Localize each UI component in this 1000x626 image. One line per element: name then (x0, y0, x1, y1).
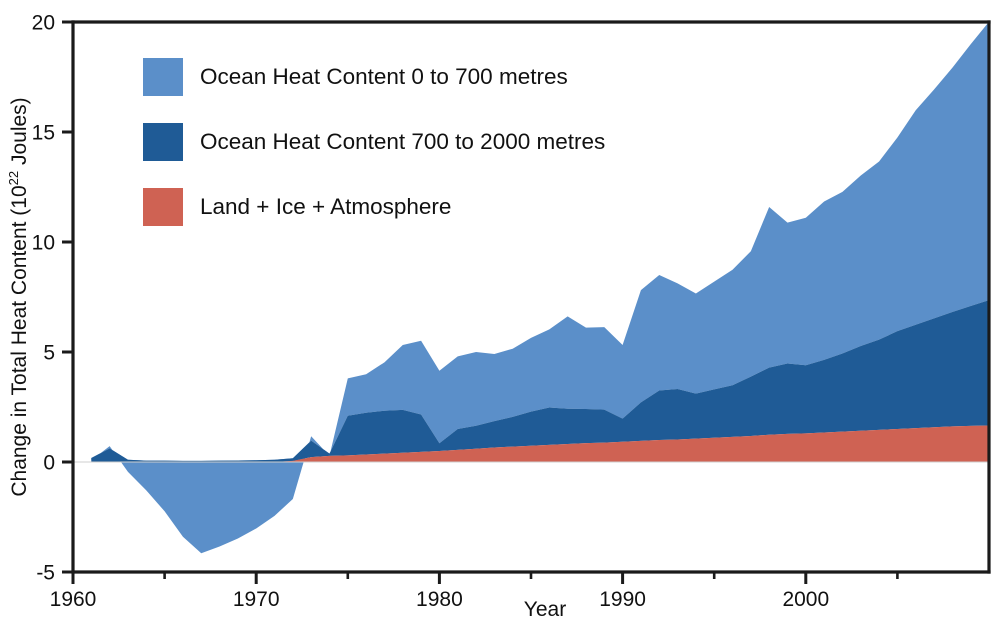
heat-content-area-chart: -505101520 19601970198019902000 Change i… (0, 0, 1000, 626)
chart-canvas: -505101520 19601970198019902000 Change i… (0, 0, 1000, 626)
x-tick-label-2000: 2000 (782, 588, 829, 611)
y-axis-title: Change in Total Heat Content (1022 Joule… (6, 97, 31, 496)
y-axis-title-exponent: 22 (6, 171, 21, 185)
y-axis-title-base: Change in Total Heat Content (10 (8, 185, 31, 496)
x-tick-label-1970: 1970 (233, 588, 280, 611)
legend-label-2: Land + Ice + Atmosphere (200, 194, 451, 219)
legend-swatch-ohc-0-700 (143, 58, 183, 96)
x-axis-title: Year (524, 598, 566, 621)
legend-label-0: Ocean Heat Content 0 to 700 metres (200, 64, 568, 89)
y-tick-label-15: 15 (32, 122, 55, 145)
y-tick-label-20: 20 (32, 12, 55, 35)
legend-swatch-land-ice-atmosphere (143, 188, 183, 226)
y-tick-label-5: 5 (43, 342, 55, 365)
y-tick-label-10: 10 (32, 232, 55, 255)
legend-label-1: Ocean Heat Content 700 to 2000 metres (200, 129, 605, 154)
x-tick-label-1980: 1980 (416, 588, 463, 611)
y-tick-label--5: -5 (36, 562, 55, 585)
legend-swatch-ohc-700-2000 (143, 123, 183, 161)
x-tick-label-1960: 1960 (50, 588, 97, 611)
y-axis-title-tail: Joules) (8, 97, 31, 171)
x-tick-label-1990: 1990 (599, 588, 646, 611)
y-tick-label-0: 0 (43, 452, 55, 475)
